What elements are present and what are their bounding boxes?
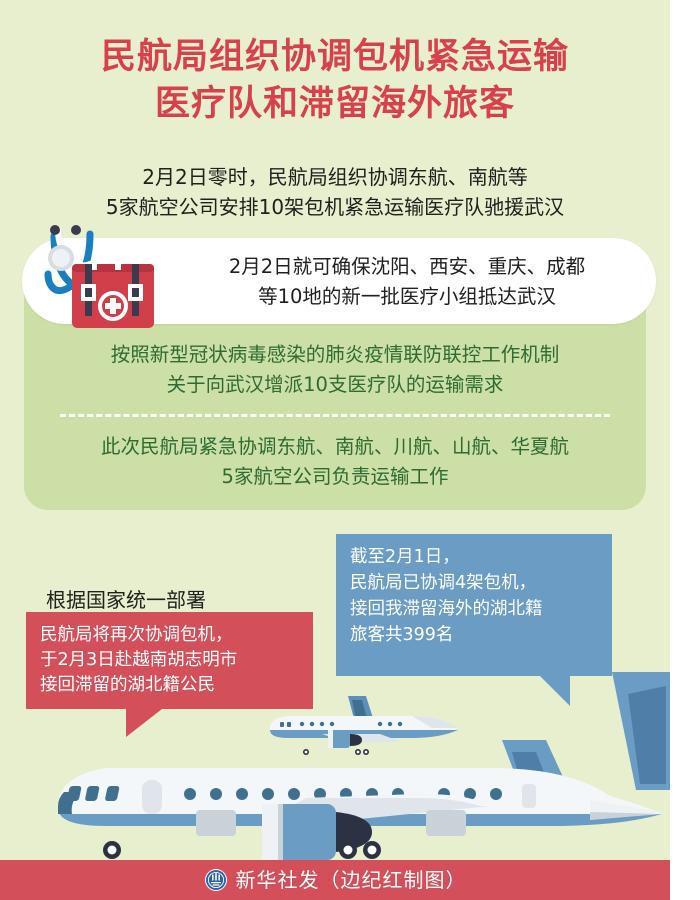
green-block-1-line-2: 关于向武汉增派10支医疗队的运输需求 [24, 370, 646, 400]
white-card-line-1: 2月2日就可确保沈阳、西安、重庆、成都 [162, 252, 652, 282]
dashed-divider [60, 414, 610, 417]
green-block-2: 此次民航局紧急协调东航、南航、川航、山航、华夏航 5家航空公司负责运输工作 [24, 432, 646, 492]
sub-heading: 根据国家统一部署 [46, 587, 206, 613]
blue-callout-line-4: 旅客共399名 [350, 622, 608, 648]
footer-text: 新华社发（边纪红制图） [236, 869, 467, 891]
red-callout-line-1: 民航局将再次协调包机， [40, 623, 305, 648]
white-card-line-2: 等10地的新一批医疗小组抵达武汉 [162, 282, 652, 312]
footer-bar: 新华社发（边纪红制图） [0, 860, 670, 900]
green-block-2-line-1: 此次民航局紧急协调东航、南航、川航、山航、华夏航 [24, 432, 646, 462]
blue-callout-text: 截至2月1日， 民航局已协调4架包机， 接回我滞留海外的湖北籍 旅客共399名 [350, 544, 608, 648]
green-block-1-line-1: 按照新型冠状病毒感染的肺炎疫情联防联控工作机制 [24, 340, 646, 370]
title-line-1: 民航局组织协调包机紧急运输 [0, 34, 670, 81]
green-block-1: 按照新型冠状病毒感染的肺炎疫情联防联控工作机制 关于向武汉增派10支医疗队的运输… [24, 340, 646, 400]
subtitle-line-1: 2月2日零时，民航局组织协调东航、南航等 [0, 162, 670, 192]
xinhua-seal-icon [204, 868, 228, 892]
page-title: 民航局组织协调包机紧急运输 医疗队和滞留海外旅客 [0, 34, 670, 128]
blue-callout-line-2: 民航局已协调4架包机， [350, 570, 608, 596]
medical-kit-stethoscope-icon [28, 222, 158, 338]
red-callout-tail [126, 709, 162, 737]
infographic-poster: 民航局组织协调包机紧急运输 医疗队和滞留海外旅客 2月2日零时，民航局组织协调东… [0, 0, 670, 900]
red-callout-line-2: 于2月3日赴越南胡志明市 [40, 648, 305, 673]
subtitle-line-2: 5家航空公司安排10架包机紧急运输医疗队驰援武汉 [0, 192, 670, 222]
subtitle: 2月2日零时，民航局组织协调东航、南航等 5家航空公司安排10架包机紧急运输医疗… [0, 162, 670, 222]
green-block-2-line-2: 5家航空公司负责运输工作 [24, 462, 646, 492]
title-line-2: 医疗队和滞留海外旅客 [0, 81, 670, 128]
red-callout-text: 民航局将再次协调包机， 于2月3日赴越南胡志明市 接回滞留的湖北籍公民 [40, 623, 305, 698]
blue-callout-line-1: 截至2月1日， [350, 544, 608, 570]
airplane-large-icon [50, 738, 670, 864]
white-card-text: 2月2日就可确保沈阳、西安、重庆、成都 等10地的新一批医疗小组抵达武汉 [162, 252, 652, 312]
blue-callout-box: 截至2月1日， 民航局已协调4架包机， 接回我滞留海外的湖北籍 旅客共399名 [336, 534, 612, 676]
blue-callout-line-3: 接回我滞留海外的湖北籍 [350, 596, 608, 622]
